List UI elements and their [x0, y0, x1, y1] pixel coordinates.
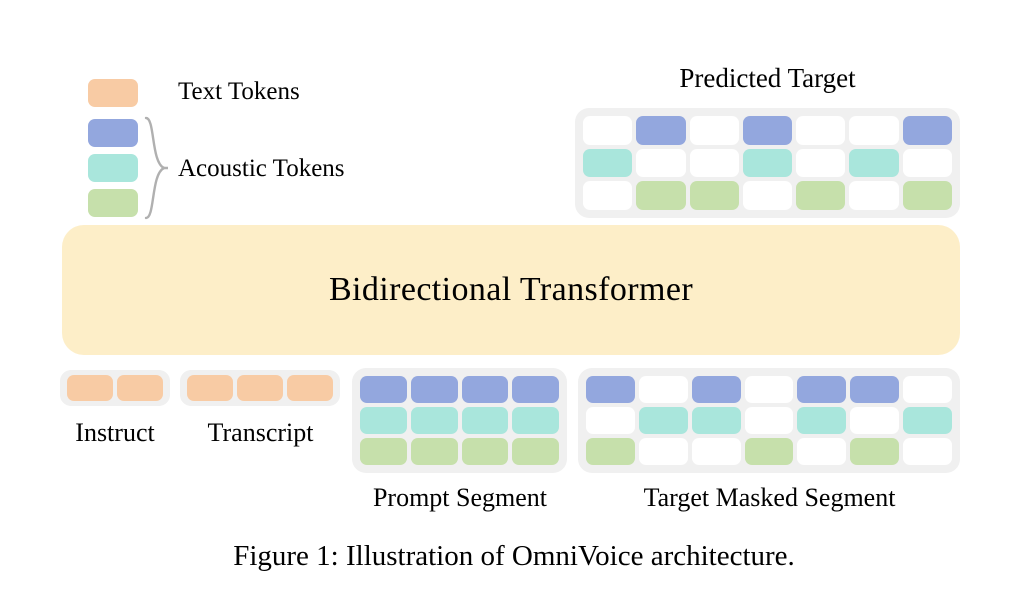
- token-cell-filled: [360, 438, 407, 465]
- token-cell-filled: [360, 407, 407, 434]
- token-cell-filled: [360, 376, 407, 403]
- token-cell-filled: [850, 376, 899, 403]
- figure-caption: Figure 1: Illustration of OmniVoice arch…: [0, 538, 1028, 574]
- token-cell-filled: [187, 375, 233, 401]
- token-cell-empty: [797, 438, 846, 465]
- token-cell-empty: [639, 376, 688, 403]
- token-cell-filled: [639, 407, 688, 434]
- token-row: [65, 375, 165, 401]
- token-cell-filled: [586, 376, 635, 403]
- token-cell-filled: [692, 376, 741, 403]
- token-cell-filled: [745, 438, 794, 465]
- token-cell-filled: [796, 181, 845, 210]
- legend-label-text-tokens: Text Tokens: [178, 78, 300, 106]
- token-cell-filled: [512, 438, 559, 465]
- prompt-segment-label: Prompt Segment: [340, 483, 580, 513]
- token-cell-empty: [796, 149, 845, 178]
- token-cell-filled: [512, 376, 559, 403]
- token-cell-empty: [745, 407, 794, 434]
- token-cell-filled: [583, 149, 632, 178]
- token-cell-empty: [583, 181, 632, 210]
- token-row: [584, 436, 954, 467]
- token-cell-filled: [462, 376, 509, 403]
- token-row: [358, 405, 561, 436]
- token-cell-empty: [903, 376, 952, 403]
- token-cell-filled: [287, 375, 333, 401]
- token-cell-filled: [411, 376, 458, 403]
- instruct-label: Instruct: [55, 418, 175, 448]
- token-cell-filled: [903, 407, 952, 434]
- transformer-label: Bidirectional Transformer: [329, 271, 693, 309]
- token-cell-empty: [903, 438, 952, 465]
- token-cell-filled: [462, 407, 509, 434]
- token-cell-filled: [411, 438, 458, 465]
- token-cell-empty: [586, 407, 635, 434]
- token-cell-filled: [636, 181, 685, 210]
- transcript-token-strip: [180, 370, 340, 406]
- predicted-target-grid: [575, 108, 960, 218]
- token-row: [581, 179, 954, 212]
- token-cell-empty: [903, 149, 952, 178]
- token-row: [584, 405, 954, 436]
- prompt-segment-grid: [352, 368, 567, 473]
- token-row: [358, 374, 561, 405]
- token-cell-empty: [583, 116, 632, 145]
- token-row: [584, 374, 954, 405]
- target-masked-segment-grid: [578, 368, 960, 473]
- token-row: [581, 147, 954, 180]
- token-cell-empty: [639, 438, 688, 465]
- legend: Text Tokens Acoustic Tokens: [88, 72, 508, 217]
- legend-swatch-acoustic-blue: [88, 119, 138, 147]
- token-cell-filled: [237, 375, 283, 401]
- target-masked-segment-label: Target Masked Segment: [592, 483, 947, 513]
- legend-swatch-acoustic-green: [88, 189, 138, 217]
- legend-swatch-text-token: [88, 79, 138, 107]
- token-cell-filled: [903, 116, 952, 145]
- transcript-label: Transcript: [178, 418, 343, 448]
- token-cell-empty: [796, 116, 845, 145]
- token-row: [358, 436, 561, 467]
- bidirectional-transformer-block: Bidirectional Transformer: [62, 225, 960, 355]
- token-cell-empty: [743, 181, 792, 210]
- token-cell-empty: [690, 116, 739, 145]
- token-cell-filled: [903, 181, 952, 210]
- token-cell-filled: [586, 438, 635, 465]
- token-cell-empty: [849, 181, 898, 210]
- token-cell-empty: [692, 438, 741, 465]
- token-cell-filled: [67, 375, 113, 401]
- token-cell-empty: [849, 116, 898, 145]
- token-cell-empty: [745, 376, 794, 403]
- legend-swatch-acoustic-cyan: [88, 154, 138, 182]
- legend-label-acoustic-tokens: Acoustic Tokens: [178, 155, 345, 183]
- token-cell-filled: [411, 407, 458, 434]
- token-cell-filled: [743, 149, 792, 178]
- curly-brace-icon: [142, 116, 168, 220]
- token-cell-filled: [117, 375, 163, 401]
- token-cell-filled: [692, 407, 741, 434]
- token-cell-empty: [690, 149, 739, 178]
- token-cell-filled: [743, 116, 792, 145]
- token-cell-empty: [636, 149, 685, 178]
- token-row: [185, 375, 335, 401]
- predicted-target-title: Predicted Target: [575, 62, 960, 94]
- token-cell-filled: [849, 149, 898, 178]
- token-row: [581, 114, 954, 147]
- token-cell-filled: [512, 407, 559, 434]
- instruct-token-strip: [60, 370, 170, 406]
- token-cell-filled: [850, 438, 899, 465]
- token-cell-filled: [636, 116, 685, 145]
- token-cell-filled: [690, 181, 739, 210]
- token-cell-filled: [462, 438, 509, 465]
- token-cell-filled: [797, 407, 846, 434]
- token-cell-filled: [797, 376, 846, 403]
- token-cell-empty: [850, 407, 899, 434]
